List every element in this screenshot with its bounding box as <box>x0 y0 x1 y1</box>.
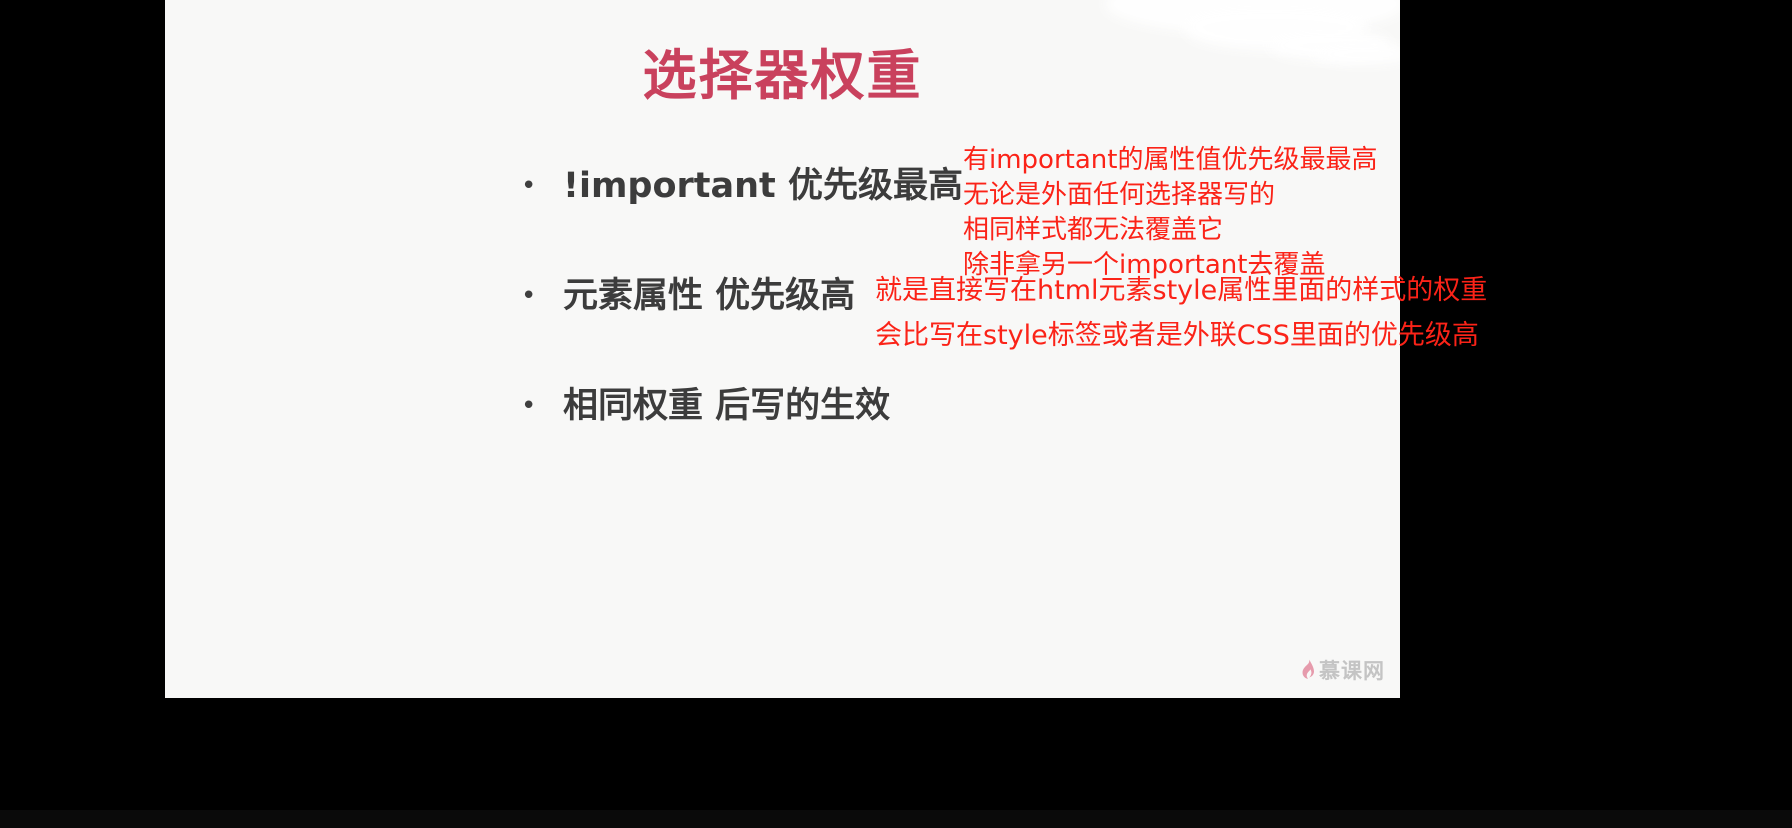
annotation-line: 无论是外面任何选择器写的 <box>963 178 1377 213</box>
imooc-watermark: 慕课网 <box>1300 655 1385 685</box>
watermark-label: 慕课网 <box>1319 655 1385 685</box>
bullet-marker-icon: • <box>515 270 563 322</box>
flame-icon <box>1300 659 1316 681</box>
slide-title: 选择器权重 <box>165 46 1400 105</box>
list-item-label: 元素属性 优先级高 <box>563 270 855 322</box>
annotation-important: 有important的属性值优先级最最高 无论是外面任何选择器写的 相同样式都无… <box>963 143 1377 283</box>
annotation-element-attribute: 就是直接写在html元素style属性里面的样式的权重 会比写在style标签或… <box>875 268 1487 358</box>
video-player-screen: 选择器权重 • !important 优先级最高 • 元素属性 优先级高 • 相… <box>0 0 1792 828</box>
bullet-marker-icon: • <box>515 160 563 212</box>
highlight-smudge <box>1185 6 1365 50</box>
list-item: • 相同权重 后写的生效 <box>515 380 1215 432</box>
annotation-line: 有important的属性值优先级最最高 <box>963 143 1377 178</box>
bullet-marker-icon: • <box>515 380 563 432</box>
annotation-line: 会比写在style标签或者是外联CSS里面的优先级高 <box>875 313 1487 358</box>
player-bottom-bar[interactable] <box>0 810 1792 828</box>
list-item-label: !important 优先级最高 <box>563 160 963 212</box>
annotation-line: 就是直接写在html元素style属性里面的样式的权重 <box>875 268 1487 313</box>
list-item-label: 相同权重 后写的生效 <box>563 380 890 432</box>
annotation-line: 相同样式都无法覆盖它 <box>963 213 1377 248</box>
highlight-smudge <box>1105 0 1400 34</box>
